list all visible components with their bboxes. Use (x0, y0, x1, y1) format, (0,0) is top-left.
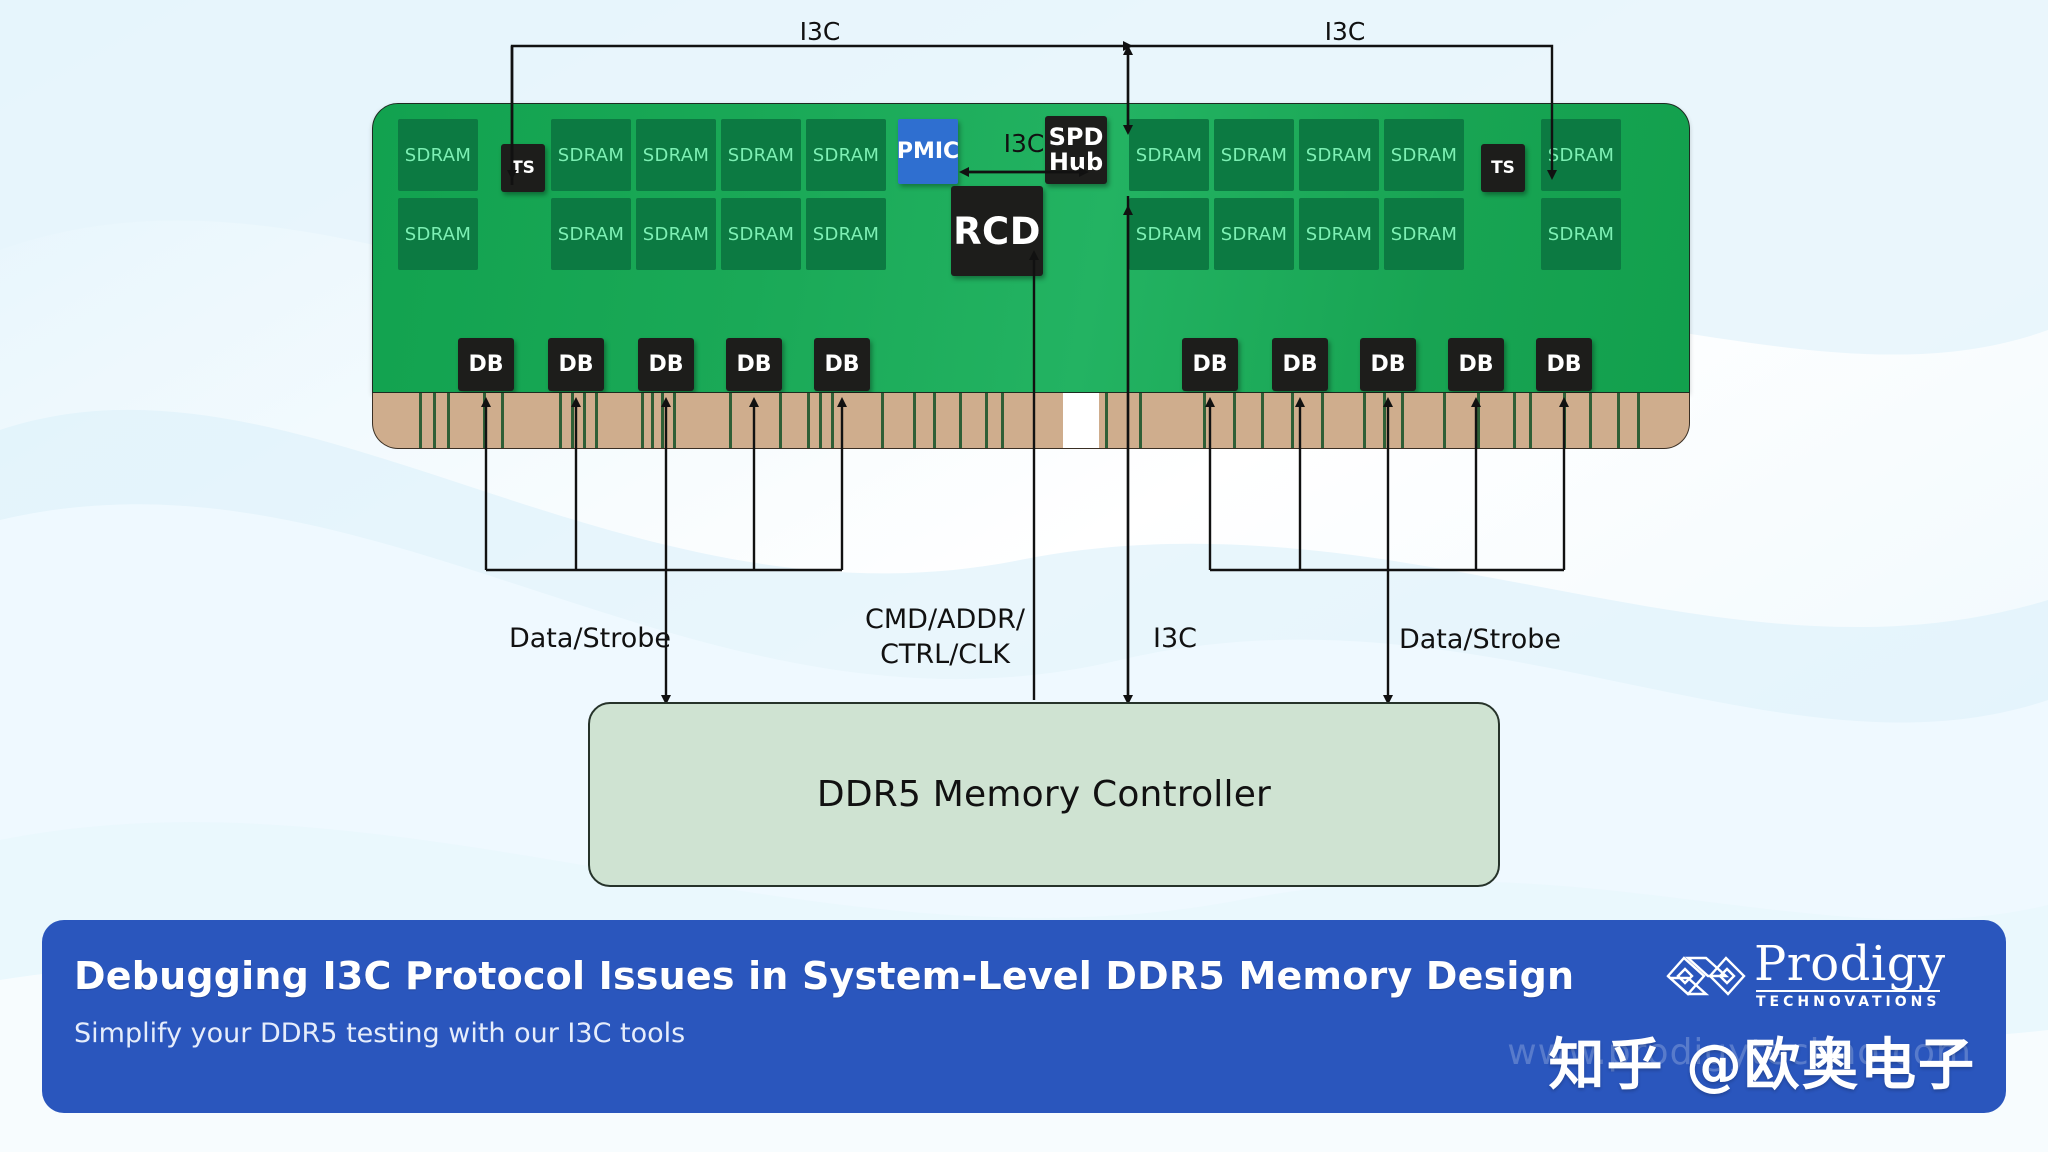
sdram-chip: SDRAM (398, 198, 478, 270)
sdram-chip: SDRAM (1299, 119, 1379, 191)
spd-hub-chip: SPD Hub (1045, 116, 1107, 184)
sdram-chip: SDRAM (1384, 198, 1464, 270)
db-chip-r1: DB (1182, 338, 1238, 391)
prodigy-infinity-icon (1664, 944, 1750, 1008)
memory-controller-label: DDR5 Memory Controller (817, 774, 1271, 815)
db-chip-l2: DB (548, 338, 604, 391)
sdram-chip: SDRAM (551, 119, 631, 191)
db-chip-r4: DB (1448, 338, 1504, 391)
ts-sensor-left: TS (501, 144, 545, 192)
sdram-chip: SDRAM (721, 198, 801, 270)
rcd-chip: RCD (951, 186, 1043, 276)
sdram-chip: SDRAM (1129, 119, 1209, 191)
db-chip-r5: DB (1536, 338, 1592, 391)
pmic-chip: PMIC (898, 119, 958, 184)
dimm-edge-connector (372, 393, 1690, 449)
db-chip-l3: DB (638, 338, 694, 391)
sdram-chip: SDRAM (551, 198, 631, 270)
ts-sensor-right: TS (1481, 144, 1525, 192)
spd-hub-label-line1: SPD (1049, 125, 1104, 150)
promo-banner: Debugging I3C Protocol Issues in System-… (42, 920, 2006, 1113)
sdram-chip: SDRAM (806, 119, 886, 191)
sdram-chip: SDRAM (1384, 119, 1464, 191)
sdram-chip: SDRAM (1129, 198, 1209, 270)
sdram-chip: SDRAM (806, 198, 886, 270)
ddr5-memory-controller: DDR5 Memory Controller (588, 702, 1500, 887)
spd-hub-label-line2: Hub (1049, 150, 1103, 175)
sdram-chip: SDRAM (1214, 198, 1294, 270)
db-chip-r3: DB (1360, 338, 1416, 391)
logo-tagline-text: TECHNOVATIONS (1756, 990, 1940, 1010)
banner-subtitle: Simplify your DDR5 testing with our I3C … (74, 1018, 685, 1049)
db-chip-r2: DB (1272, 338, 1328, 391)
db-chip-l5: DB (814, 338, 870, 391)
diagram-canvas: SDRAM SDRAM TS SDRAM SDRAM SDRAM SDRAM S… (0, 0, 2048, 1152)
sdram-chip: SDRAM (636, 119, 716, 191)
sdram-chip: SDRAM (1299, 198, 1379, 270)
sdram-chip: SDRAM (636, 198, 716, 270)
sdram-chip: SDRAM (1541, 198, 1621, 270)
db-chip-l4: DB (726, 338, 782, 391)
sdram-chip: SDRAM (721, 119, 801, 191)
db-chip-l1: DB (458, 338, 514, 391)
sdram-chip: SDRAM (398, 119, 478, 191)
sdram-chip: SDRAM (1214, 119, 1294, 191)
logo-brand-text: Prodigy (1754, 936, 1946, 992)
sdram-chip: SDRAM (1541, 119, 1621, 191)
prodigy-logo: Prodigy TECHNOVATIONS (1668, 938, 1978, 1024)
connector-key-notch (1063, 393, 1099, 448)
banner-title: Debugging I3C Protocol Issues in System-… (74, 954, 1574, 998)
watermark-handle: 知乎 @欧奥电子 (1549, 1020, 1977, 1101)
